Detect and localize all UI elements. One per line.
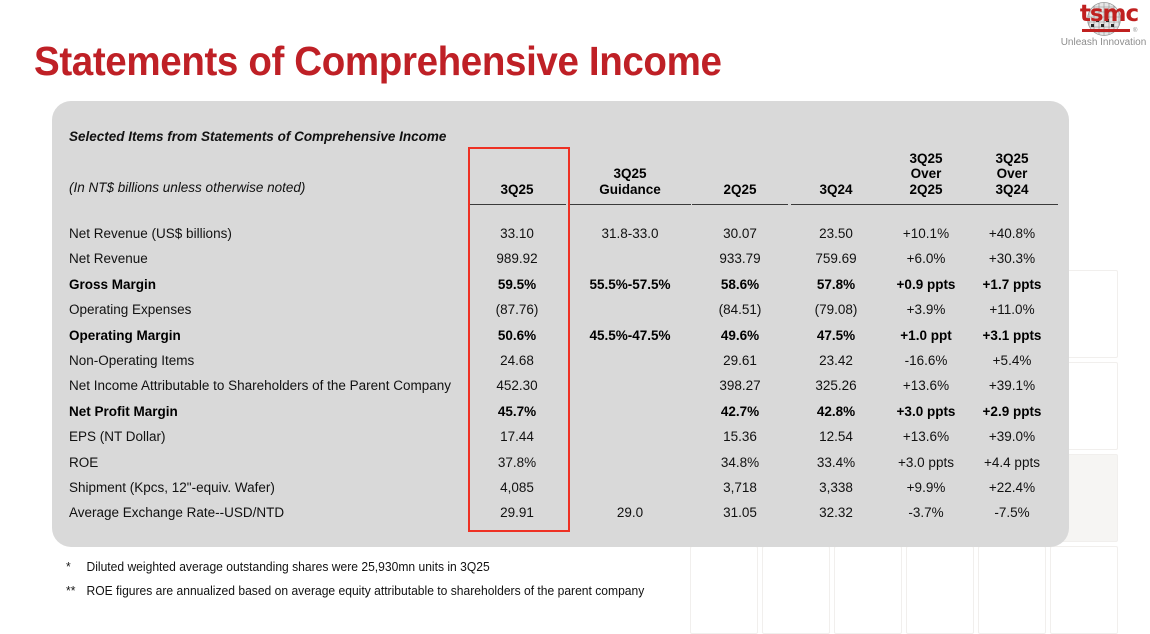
watermark-die bbox=[906, 546, 974, 634]
footnote-text: Diluted weighted average outstanding sha… bbox=[86, 559, 489, 574]
table-cell: +0.9 ppts bbox=[880, 277, 972, 292]
row-label: ROE bbox=[69, 455, 98, 470]
table-cell: 3,718 bbox=[692, 480, 788, 495]
table-cell: -16.6% bbox=[880, 353, 972, 368]
column-header-rule bbox=[692, 204, 788, 205]
table-cell: 933.79 bbox=[692, 251, 788, 266]
table-cell: 29.61 bbox=[692, 353, 788, 368]
table-cell: +1.7 ppts bbox=[966, 277, 1058, 292]
table-cell: +13.6% bbox=[880, 429, 972, 444]
table-cell: 42.8% bbox=[791, 404, 881, 419]
table-cell: 398.27 bbox=[692, 378, 788, 393]
watermark-die bbox=[1050, 546, 1118, 634]
watermark-die bbox=[762, 546, 830, 634]
table-cell: 57.8% bbox=[791, 277, 881, 292]
table-cell: 759.69 bbox=[791, 251, 881, 266]
column-header-rule bbox=[569, 204, 691, 205]
table-cell: 30.07 bbox=[692, 226, 788, 241]
table-cell: +3.0 ppts bbox=[880, 404, 972, 419]
column-header-rule bbox=[880, 204, 972, 205]
column-header-line: Guidance bbox=[569, 182, 691, 198]
table-cell: 33.10 bbox=[468, 226, 566, 241]
table-cell: 55.5%-57.5% bbox=[569, 277, 691, 292]
table-cell: 42.7% bbox=[692, 404, 788, 419]
table-cell: 45.5%-47.5% bbox=[569, 328, 691, 343]
logo-tagline: Unleash Innovation bbox=[1056, 37, 1150, 48]
table-cell: +5.4% bbox=[966, 353, 1058, 368]
table-cell: +10.1% bbox=[880, 226, 972, 241]
table-cell: 34.8% bbox=[692, 455, 788, 470]
footnote-2: **ROE figures are annualized based on av… bbox=[66, 583, 644, 598]
column-header-line: 3Q25 bbox=[569, 166, 691, 182]
table-cell: +6.0% bbox=[880, 251, 972, 266]
table-cell: 4,085 bbox=[468, 480, 566, 495]
row-label: Gross Margin bbox=[69, 277, 156, 292]
table-cell: 31.05 bbox=[692, 505, 788, 520]
column-header-line: 3Q25 bbox=[468, 182, 566, 198]
column-header-6: 3Q25Over3Q24 bbox=[966, 151, 1058, 198]
table-cell: 31.8-33.0 bbox=[569, 226, 691, 241]
table-cell: 3,338 bbox=[791, 480, 881, 495]
table-cell: 15.36 bbox=[692, 429, 788, 444]
table-cell: 37.8% bbox=[468, 455, 566, 470]
page-title: Statements of Comprehensive Income bbox=[34, 38, 722, 85]
table-cell: -3.7% bbox=[880, 505, 972, 520]
footnote-text: ROE figures are annualized based on aver… bbox=[86, 583, 644, 598]
table-cell: +22.4% bbox=[966, 480, 1058, 495]
column-header-5: 3Q25Over2Q25 bbox=[880, 151, 972, 198]
table-cell: 50.6% bbox=[468, 328, 566, 343]
table-cell: +39.0% bbox=[966, 429, 1058, 444]
table-cell: 12.54 bbox=[791, 429, 881, 444]
row-label: Net Revenue (US$ billions) bbox=[69, 226, 232, 241]
registered-mark: ® bbox=[1133, 28, 1137, 34]
table-cell: +4.4 ppts bbox=[966, 455, 1058, 470]
table-cell: (87.76) bbox=[468, 302, 566, 317]
watermark-die bbox=[690, 546, 758, 634]
table-cell: +3.1 ppts bbox=[966, 328, 1058, 343]
table-cell: +11.0% bbox=[966, 302, 1058, 317]
row-label: Net Profit Margin bbox=[69, 404, 178, 419]
table-cell: 45.7% bbox=[468, 404, 566, 419]
logo-wordmark: tsmc bbox=[1076, 2, 1142, 27]
table-cell: 59.5% bbox=[468, 277, 566, 292]
tsmc-logo: tsmc ® Unleash Innovation bbox=[1070, 1, 1148, 56]
row-label: Net Income Attributable to Shareholders … bbox=[69, 378, 451, 393]
table-cell: 29.0 bbox=[569, 505, 691, 520]
table-cell: 24.68 bbox=[468, 353, 566, 368]
table-cell: 47.5% bbox=[791, 328, 881, 343]
table-cell: 989.92 bbox=[468, 251, 566, 266]
column-header-1: 3Q25 bbox=[468, 182, 566, 198]
table-cell: 23.50 bbox=[791, 226, 881, 241]
table-cell: +3.0 ppts bbox=[880, 455, 972, 470]
table-cell: +30.3% bbox=[966, 251, 1058, 266]
table-cell: +2.9 ppts bbox=[966, 404, 1058, 419]
table-cell: 33.4% bbox=[791, 455, 881, 470]
table-cell: +40.8% bbox=[966, 226, 1058, 241]
table-cell: +1.0 ppt bbox=[880, 328, 972, 343]
row-label: Operating Expenses bbox=[69, 302, 191, 317]
column-header-line: 3Q24 bbox=[791, 182, 881, 198]
footnote-1: *Diluted weighted average outstanding sh… bbox=[66, 559, 490, 574]
column-header-line: 2Q25 bbox=[692, 182, 788, 198]
column-header-line: 3Q25 bbox=[966, 151, 1058, 167]
logo-underline-bar bbox=[1082, 29, 1130, 32]
table-cell: 49.6% bbox=[692, 328, 788, 343]
table-cell: 32.32 bbox=[791, 505, 881, 520]
table-cell: +9.9% bbox=[880, 480, 972, 495]
footnote-marker: * bbox=[66, 559, 86, 574]
table-cell: +13.6% bbox=[880, 378, 972, 393]
table-cell: 452.30 bbox=[468, 378, 566, 393]
table-cell: 23.42 bbox=[791, 353, 881, 368]
column-header-line: 2Q25 bbox=[880, 182, 972, 198]
table-cell: 325.26 bbox=[791, 378, 881, 393]
row-label: Operating Margin bbox=[69, 328, 181, 343]
column-header-2: 3Q25Guidance bbox=[569, 166, 691, 197]
footnote-marker: ** bbox=[66, 583, 86, 598]
table-cell: (79.08) bbox=[791, 302, 881, 317]
column-header-rule bbox=[791, 204, 881, 205]
watermark-die bbox=[834, 546, 902, 634]
comprehensive-income-table: 3Q253Q25Guidance2Q253Q243Q25Over2Q253Q25… bbox=[52, 101, 1069, 547]
table-cell: +39.1% bbox=[966, 378, 1058, 393]
row-label: Average Exchange Rate--USD/NTD bbox=[69, 505, 284, 520]
column-header-4: 3Q24 bbox=[791, 182, 881, 198]
table-cell: -7.5% bbox=[966, 505, 1058, 520]
income-statement-card: Selected Items from Statements of Compre… bbox=[52, 101, 1069, 547]
watermark-die bbox=[978, 546, 1046, 634]
table-cell: (84.51) bbox=[692, 302, 788, 317]
table-cell: 58.6% bbox=[692, 277, 788, 292]
table-cell: 17.44 bbox=[468, 429, 566, 444]
table-cell: 29.91 bbox=[468, 505, 566, 520]
column-header-rule bbox=[966, 204, 1058, 205]
row-label: Non-Operating Items bbox=[69, 353, 194, 368]
column-header-3: 2Q25 bbox=[692, 182, 788, 198]
row-label: Shipment (Kpcs, 12"-equiv. Wafer) bbox=[69, 480, 275, 495]
column-header-line: 3Q25 bbox=[880, 151, 972, 167]
column-header-line: Over bbox=[966, 166, 1058, 182]
row-label: EPS (NT Dollar) bbox=[69, 429, 166, 444]
row-label: Net Revenue bbox=[69, 251, 148, 266]
column-header-line: Over bbox=[880, 166, 972, 182]
table-cell: +3.9% bbox=[880, 302, 972, 317]
column-header-line: 3Q24 bbox=[966, 182, 1058, 198]
column-header-rule bbox=[468, 204, 566, 205]
